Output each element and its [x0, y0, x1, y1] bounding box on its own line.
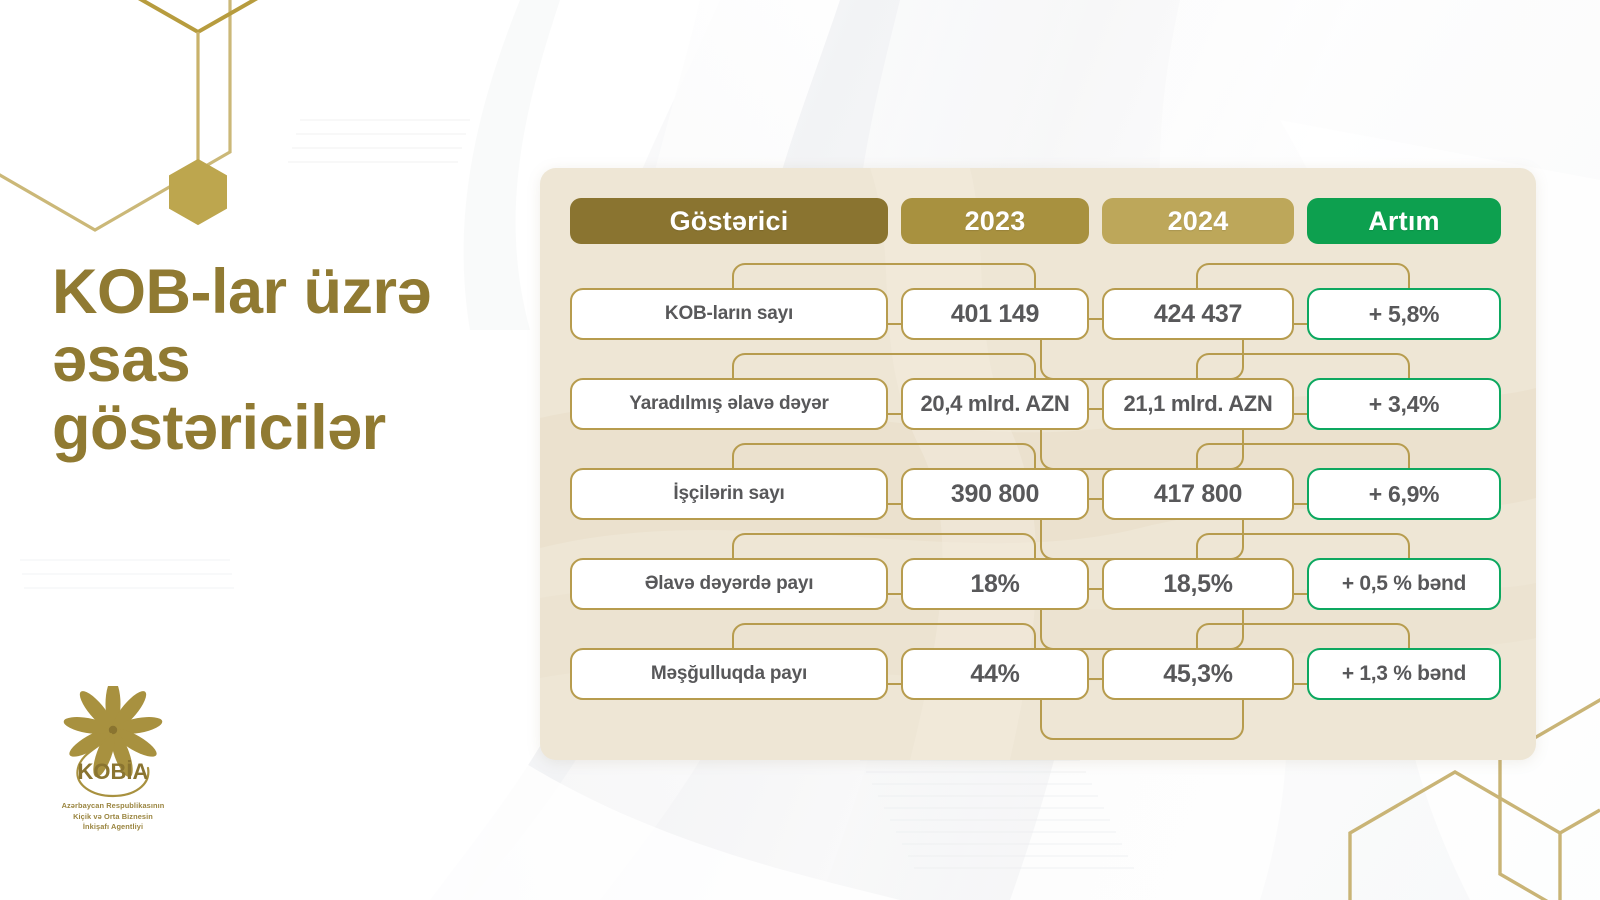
- indicator-pill: Əlavə dəyərdə payı: [570, 558, 888, 610]
- cell-2023: 18%: [901, 558, 1089, 610]
- page-title: KOB-lar üzrə əsas göstəricilər: [52, 258, 522, 462]
- header-cell-growth: Artım: [1307, 198, 1501, 244]
- value-pill-2023: 20,4 mlrd. AZN: [901, 378, 1089, 430]
- table-row: Yaradılmış əlavə dəyər 20,4 mlrd. AZN 21…: [570, 372, 1514, 436]
- value-2023: 401 149: [951, 300, 1039, 329]
- value-2024: 45,3%: [1163, 660, 1232, 689]
- value-pill-2023: 390 800: [901, 468, 1089, 520]
- cell-indicator: Yaradılmış əlavə dəyər: [570, 378, 888, 430]
- value-pill-2023: 401 149: [901, 288, 1089, 340]
- cell-2023: 44%: [901, 648, 1089, 700]
- value-2023: 44%: [970, 660, 1019, 689]
- table-row: Əlavə dəyərdə payı 18% 18,5% + 0,5 % bən…: [570, 552, 1514, 616]
- header-cell-indicator: Göstərici: [570, 198, 888, 244]
- kobia-flower-icon: KOBİA: [38, 686, 188, 798]
- value-2024: 424 437: [1154, 300, 1242, 329]
- growth-value: + 3,4%: [1369, 391, 1439, 418]
- growth-pill: + 1,3 % bənd: [1307, 648, 1501, 700]
- value-2023: 390 800: [951, 480, 1039, 509]
- cell-2024: 18,5%: [1102, 558, 1294, 610]
- indicator-label: KOB-ların sayı: [665, 303, 793, 325]
- cell-indicator: KOB-ların sayı: [570, 288, 888, 340]
- growth-value: + 1,3 % bənd: [1342, 662, 1466, 686]
- cell-2024: 21,1 mlrd. AZN: [1102, 378, 1294, 430]
- value-2024: 18,5%: [1163, 570, 1232, 599]
- cell-growth: + 5,8%: [1307, 288, 1501, 340]
- cell-2024: 417 800: [1102, 468, 1294, 520]
- value-2023: 20,4 mlrd. AZN: [920, 391, 1069, 417]
- growth-value: + 5,8%: [1369, 301, 1439, 328]
- indicator-label: Yaradılmış əlavə dəyər: [629, 393, 828, 415]
- indicator-label: İşçilərin sayı: [673, 483, 784, 505]
- table-row: İşçilərin sayı 390 800 417 800 + 6,9%: [570, 462, 1514, 526]
- indicator-pill: KOB-ların sayı: [570, 288, 888, 340]
- cell-2023: 20,4 mlrd. AZN: [901, 378, 1089, 430]
- kobia-wordmark: KOBİA: [78, 759, 149, 784]
- value-pill-2023: 44%: [901, 648, 1089, 700]
- growth-value: + 0,5 % bənd: [1342, 572, 1466, 596]
- indicators-table: Göstərici 2023 2024 Artım KOB-ların sayı…: [540, 168, 1536, 760]
- header-cell-2024: 2024: [1102, 198, 1294, 244]
- cell-2023: 390 800: [901, 468, 1089, 520]
- growth-pill: + 5,8%: [1307, 288, 1501, 340]
- growth-pill: + 6,9%: [1307, 468, 1501, 520]
- kobia-logo: KOBİA Azərbaycan Respublikasının Kiçik v…: [38, 686, 188, 833]
- value-2023: 18%: [970, 570, 1019, 599]
- cell-indicator: Əlavə dəyərdə payı: [570, 558, 888, 610]
- cell-growth: + 1,3 % bənd: [1307, 648, 1501, 700]
- cell-2024: 424 437: [1102, 288, 1294, 340]
- cell-growth: + 6,9%: [1307, 468, 1501, 520]
- logo-caption: Azərbaycan Respublikasının Kiçik və Orta…: [38, 801, 188, 833]
- indicator-label: Əlavə dəyərdə payı: [645, 573, 814, 595]
- value-pill-2024: 45,3%: [1102, 648, 1294, 700]
- value-pill-2024: 18,5%: [1102, 558, 1294, 610]
- indicators-panel: Göstərici 2023 2024 Artım KOB-ların sayı…: [540, 168, 1536, 760]
- table-row: Məşğulluqda payı 44% 45,3% + 1,3 % bənd: [570, 642, 1514, 706]
- table-header-row: Göstərici 2023 2024 Artım: [570, 198, 1514, 244]
- value-pill-2023: 18%: [901, 558, 1089, 610]
- cell-2023: 401 149: [901, 288, 1089, 340]
- value-pill-2024: 417 800: [1102, 468, 1294, 520]
- value-pill-2024: 424 437: [1102, 288, 1294, 340]
- growth-pill: + 3,4%: [1307, 378, 1501, 430]
- cell-growth: + 0,5 % bənd: [1307, 558, 1501, 610]
- value-pill-2024: 21,1 mlrd. AZN: [1102, 378, 1294, 430]
- indicator-label: Məşğulluqda payı: [651, 663, 807, 685]
- cell-growth: + 3,4%: [1307, 378, 1501, 430]
- indicator-pill: İşçilərin sayı: [570, 468, 888, 520]
- growth-value: + 6,9%: [1369, 481, 1439, 508]
- indicator-pill: Məşğulluqda payı: [570, 648, 888, 700]
- value-2024: 21,1 mlrd. AZN: [1123, 391, 1272, 417]
- growth-pill: + 0,5 % bənd: [1307, 558, 1501, 610]
- cell-indicator: Məşğulluqda payı: [570, 648, 888, 700]
- indicator-pill: Yaradılmış əlavə dəyər: [570, 378, 888, 430]
- table-row: KOB-ların sayı 401 149 424 437 + 5,8%: [570, 282, 1514, 346]
- cell-2024: 45,3%: [1102, 648, 1294, 700]
- header-cell-2023: 2023: [901, 198, 1089, 244]
- value-2024: 417 800: [1154, 480, 1242, 509]
- cell-indicator: İşçilərin sayı: [570, 468, 888, 520]
